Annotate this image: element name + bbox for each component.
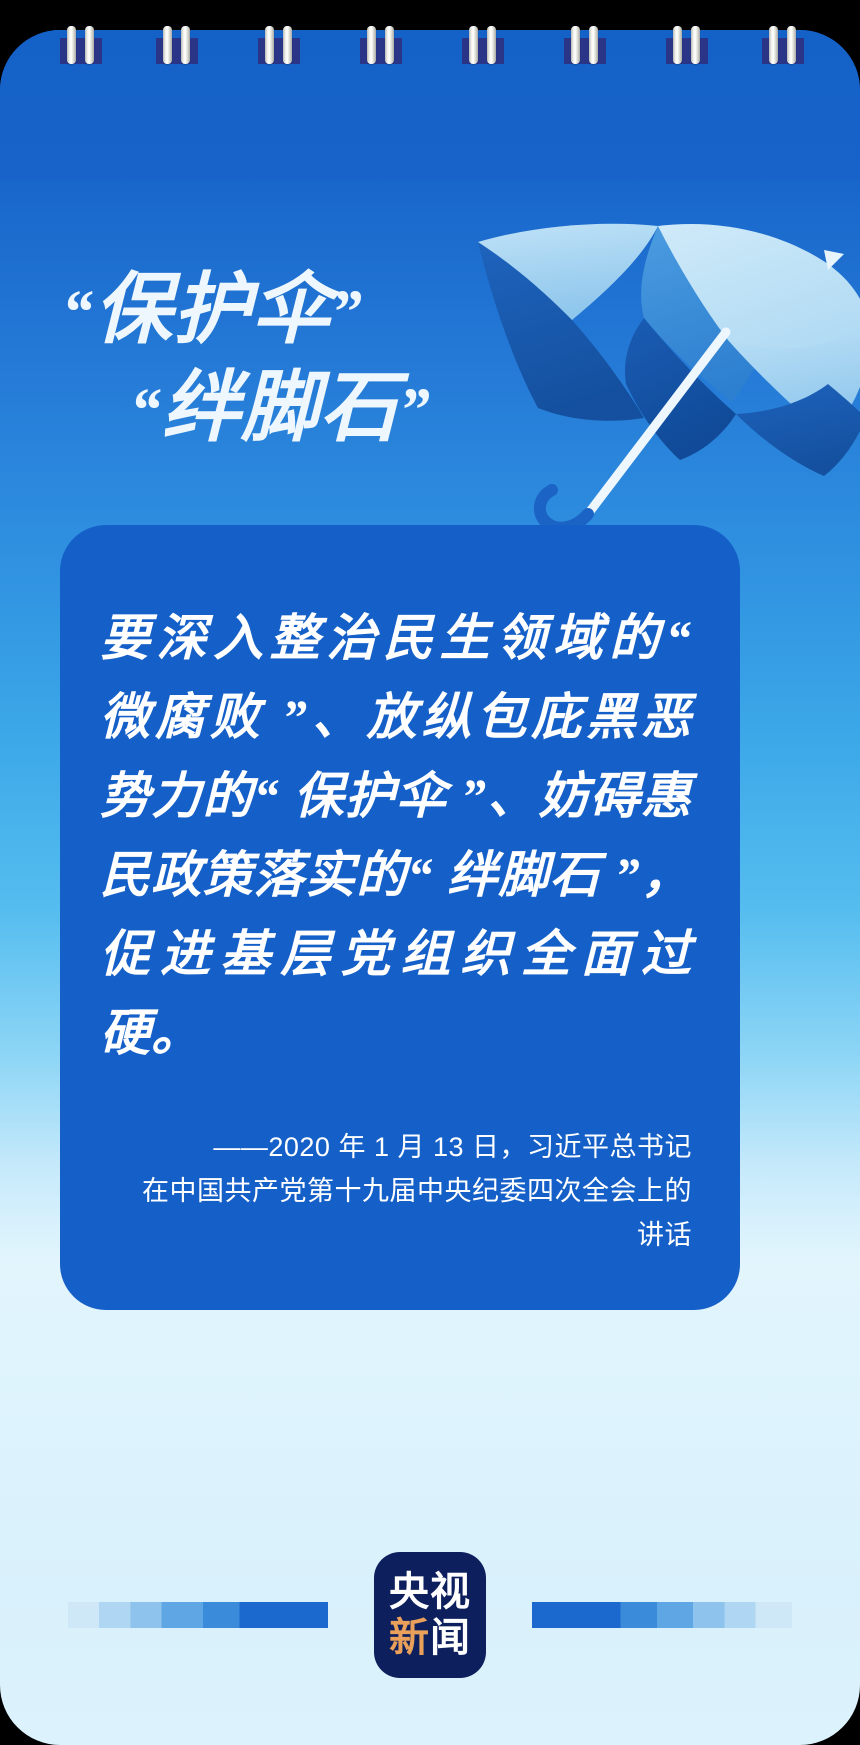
binding-wire-icon — [589, 26, 598, 64]
binding-ring-7 — [666, 26, 708, 64]
headline-quote-open-1: “ — [62, 278, 94, 346]
footer: 央视 新 闻 — [0, 1550, 860, 1680]
headline-quote-open-2: “ — [130, 377, 162, 445]
quote-body: 要深入整治民生领域的“ 微腐败 ”、放纵包庇黑恶势力的“ 保护伞 ”、妨碍惠民政… — [100, 599, 692, 1073]
binding-wire-icon — [769, 26, 778, 64]
binding-wire-icon — [469, 26, 478, 64]
binding-wire-icon — [487, 26, 496, 64]
logo-text-yangshi: 央视 — [389, 1570, 471, 1614]
binding-wire-icon — [787, 26, 796, 64]
binding-wire-icon — [181, 26, 190, 64]
binding-wire-icon — [673, 26, 682, 64]
decorative-bar-left — [68, 1602, 328, 1628]
binding-wire-icon — [85, 26, 94, 64]
headline-quote-close-2: ” — [399, 377, 431, 445]
binding-ring-8 — [762, 26, 804, 64]
logo-row-top: 央视 — [389, 1570, 471, 1614]
binding-ring-6 — [564, 26, 606, 64]
poster-page: “保护伞” “绊脚石” 要深入整治民生领域的“ 微腐败 ”、放纵包庇黑恶势力的“… — [0, 30, 860, 1745]
headline-text-2: 绊脚石 — [162, 364, 399, 451]
binding-ring-2 — [156, 26, 198, 64]
binding-wire-icon — [691, 26, 700, 64]
quote-card: 要深入整治民生领域的“ 微腐败 ”、放纵包庇黑恶势力的“ 保护伞 ”、妨碍惠民政… — [60, 525, 740, 1310]
attribution-line-1: ——2020 年 1 月 13 日，习近平总书记 — [108, 1125, 692, 1169]
headline-quote-close-1: ” — [331, 278, 363, 346]
headline-line-1: “保护伞” — [0, 262, 860, 360]
decorative-bar-right — [532, 1602, 792, 1628]
headline-line-2: “绊脚石” — [0, 360, 860, 458]
binding-ring-5 — [462, 26, 504, 64]
poster-root: “保护伞” “绊脚石” 要深入整治民生领域的“ 微腐败 ”、放纵包庇黑恶势力的“… — [0, 0, 860, 1745]
logo-text-xin: 新 — [389, 1616, 430, 1660]
attribution-line-2: 在中国共产党第十九届中央纪委四次全会上的 — [108, 1169, 692, 1213]
logo-row-bottom: 新 闻 — [389, 1616, 471, 1660]
binding-wire-icon — [163, 26, 172, 64]
spiral-binding — [0, 0, 860, 90]
binding-wire-icon — [67, 26, 76, 64]
attribution-line-3: 讲话 — [108, 1213, 692, 1257]
binding-wire-icon — [367, 26, 376, 64]
binding-wire-icon — [265, 26, 274, 64]
logo-text-wen: 闻 — [430, 1616, 471, 1660]
headline-text-1: 保护伞 — [94, 266, 331, 353]
binding-ring-1 — [60, 26, 102, 64]
binding-wire-icon — [283, 26, 292, 64]
cctv-news-logo[interactable]: 央视 新 闻 — [374, 1552, 486, 1678]
binding-wire-icon — [571, 26, 580, 64]
binding-wire-icon — [385, 26, 394, 64]
quote-attribution: ——2020 年 1 月 13 日，习近平总书记 在中国共产党第十九届中央纪委四… — [108, 1125, 692, 1257]
binding-ring-3 — [258, 26, 300, 64]
page-title: “保护伞” “绊脚石” — [0, 262, 860, 459]
binding-ring-4 — [360, 26, 402, 64]
